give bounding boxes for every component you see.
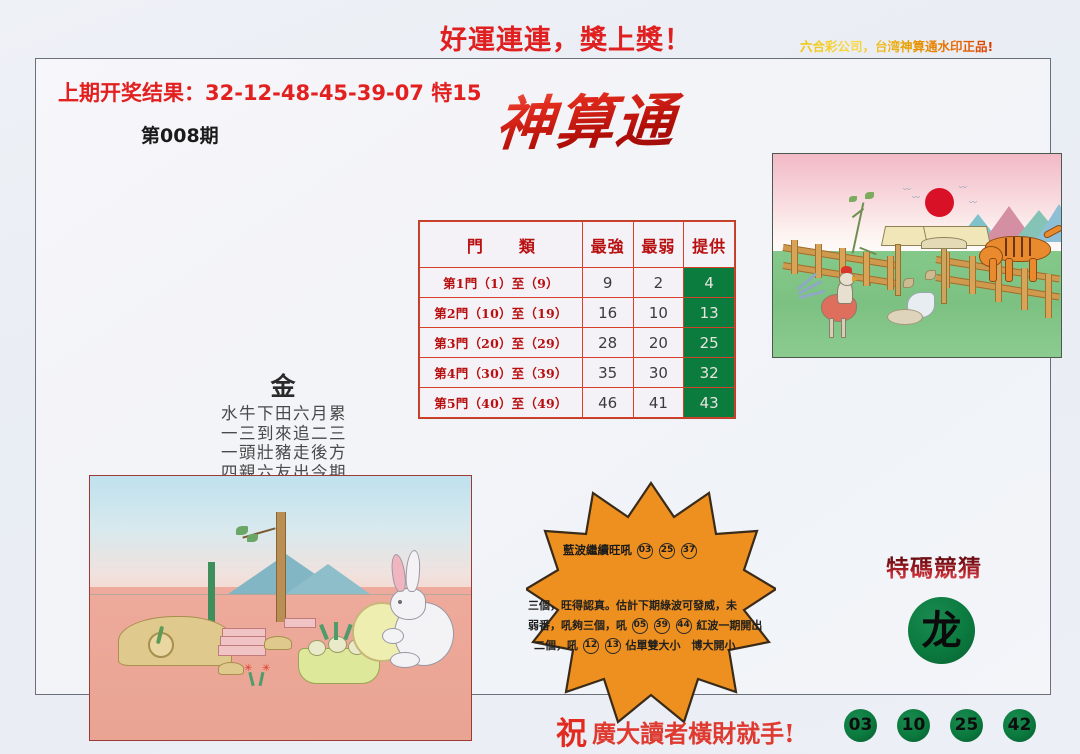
row-provide: 32: [684, 358, 735, 388]
line2-pre: 弱番，吼夠三個，吼: [528, 619, 627, 632]
starburst-callout: 藍波繼續旺吼 03 25 37 三個，旺得認真。估計下期綠波可發威，未 弱番，吼…: [526, 479, 776, 729]
bird-icon: 〰: [959, 184, 967, 192]
bird-icon: 〰: [903, 186, 911, 194]
poem-line: 水牛下田六月累: [184, 404, 384, 424]
rabbit-head: [390, 588, 426, 620]
illustration-tiger-rooster: 〰 〰 〰 〰: [772, 153, 1062, 358]
row-label: 第2門（10）至（19）: [420, 298, 583, 328]
special-guess-title: 特碼競猜: [886, 549, 982, 583]
burst-number: 03: [637, 543, 653, 559]
rooster-leg: [829, 318, 834, 338]
fence-post: [791, 240, 798, 274]
pebble-icon: [903, 278, 914, 288]
rooster-beak: [852, 276, 858, 282]
parasol-shape: [921, 237, 967, 249]
hut-pole: [941, 244, 947, 304]
table-row: 第4門（30）至（39） 35 30 32: [420, 358, 735, 388]
fence-post: [887, 256, 894, 290]
tiger-leg: [1029, 258, 1037, 282]
rabbit-eye-icon: [398, 600, 402, 604]
previous-draw-result: 上期开奖结果：32-12-48-45-39-07 特15: [58, 77, 481, 107]
row-strong: 35: [582, 358, 633, 388]
tiger-stripe: [1005, 238, 1007, 256]
tiger-leg: [1005, 258, 1013, 282]
fence-post: [1045, 274, 1052, 318]
burst-number: 25: [659, 543, 675, 559]
starburst-line-2: 弱番，吼夠三個，吼 05 39 44 紅波一期開出: [528, 617, 762, 634]
leaf-icon: [849, 196, 857, 202]
fence-post: [969, 256, 976, 294]
sand-lump: [264, 636, 292, 650]
bird-icon: 〰: [912, 194, 920, 202]
zodiac-ball: 龙: [908, 597, 975, 664]
starburst-title: 藍波繼續旺吼 03 25 37: [563, 542, 698, 559]
line3-post: 佔單雙大小 博大開小: [626, 639, 736, 652]
row-label: 第3門（20）至（29）: [420, 328, 583, 358]
sun-icon: [925, 188, 954, 217]
fence-post: [1021, 268, 1028, 310]
starburst-title-text: 藍波繼續旺吼: [563, 543, 632, 557]
bottom-banner: 祝 廣大讀者橫財就手!: [0, 700, 1080, 754]
wish-rest-text: 廣大讀者橫財就手!: [592, 719, 795, 748]
tiger-stripe: [1013, 237, 1015, 257]
table-row: 第1門（1）至（9） 9 2 4: [420, 268, 735, 298]
row-label: 第5門（40）至（49）: [420, 388, 583, 418]
rabbit-foot: [390, 652, 420, 668]
table-row: 第2門（10）至（19） 16 10 13: [420, 298, 735, 328]
line3-pre: 二個，吼: [534, 639, 578, 652]
row-label: 第1門（1）至（9）: [420, 268, 583, 298]
burst-number: 39: [654, 618, 670, 634]
row-weak: 20: [633, 328, 684, 358]
row-strong: 16: [582, 298, 633, 328]
leaf-icon: [247, 534, 258, 542]
stone-circle: [887, 309, 923, 325]
flower-icon: ✳: [262, 664, 270, 674]
bottom-wish-text: 祝 廣大讀者橫財就手!: [556, 708, 795, 753]
table-row: 第5門（40）至（49） 46 41 43: [420, 388, 735, 418]
rooster-leg: [841, 318, 846, 338]
brick-stack: [218, 645, 266, 656]
tiger-stripe: [1021, 237, 1023, 257]
row-weak: 10: [633, 298, 684, 328]
tiger-stripe: [1029, 238, 1031, 256]
slogan-main: 好運連連，獎上獎！: [440, 18, 692, 57]
col-header-strongest: 最強: [582, 222, 633, 268]
row-strong: 46: [582, 388, 633, 418]
leaf-icon: [236, 526, 248, 535]
burst-number: 05: [632, 618, 648, 634]
row-weak: 2: [633, 268, 684, 298]
main-poster-frame: 上期开奖结果：32-12-48-45-39-07 特15 第008期 神算通 門…: [35, 58, 1051, 695]
row-strong: 9: [582, 268, 633, 298]
row-provide: 4: [684, 268, 735, 298]
pebble-icon: [925, 270, 936, 280]
row-provide: 13: [684, 298, 735, 328]
col-header-type: 門 類: [420, 222, 583, 268]
table-header-row: 門 類 最強 最弱 提供: [420, 222, 735, 268]
slogan-watermark: 六合彩公司，台湾神算通水印正品!: [800, 36, 993, 55]
starburst-line-1: 三個，旺得認真。估計下期綠波可發威，未: [528, 597, 737, 613]
mountain-shape: [286, 564, 370, 594]
row-label: 第4門（30）至（39）: [420, 358, 583, 388]
row-weak: 30: [633, 358, 684, 388]
burst-number: 12: [583, 638, 599, 654]
row-provide: 25: [684, 328, 735, 358]
poem-lines: 水牛下田六月累 一三到來追二三 一頭壯豬走後方 四親六友出今期: [184, 404, 384, 482]
rock-formation: [118, 616, 232, 666]
brand-logo: 神算通: [492, 80, 729, 167]
burst-number: 44: [676, 618, 692, 634]
top-banner: 好運連連，獎上獎！ 六合彩公司，台湾神算通水印正品!: [0, 0, 1080, 58]
sand-lump: [218, 662, 244, 675]
line2-post: 紅波一期開出: [696, 619, 762, 632]
burst-number: 13: [605, 638, 621, 654]
wooden-pole: [276, 512, 286, 622]
poem-block: 金 水牛下田六月累 一三到來追二三 一頭壯豬走後方 四親六友出今期: [184, 367, 384, 482]
row-provide: 43: [684, 388, 735, 418]
brick-stack: [284, 618, 316, 628]
table-row: 第3門（20）至（29） 28 20 25: [420, 328, 735, 358]
issue-number: 第008期: [141, 121, 219, 148]
col-header-weakest: 最弱: [633, 222, 684, 268]
tiger-leg: [989, 258, 997, 282]
vegetable-item: [308, 640, 326, 656]
row-weak: 41: [633, 388, 684, 418]
row-strong: 28: [582, 328, 633, 358]
rabbit-paw: [382, 628, 404, 644]
flower-icon: ✳: [244, 664, 252, 674]
poem-title: 金: [184, 367, 384, 403]
col-header-provide: 提供: [684, 222, 735, 268]
leaf-icon: [865, 192, 874, 199]
bird-icon: 〰: [969, 199, 977, 207]
poem-line: 一頭壯豬走後方: [184, 443, 384, 463]
vegetable-leaf: [334, 622, 338, 640]
forecast-table: 門 類 最強 最弱 提供 第1門（1）至（9） 9 2 4 第2門（10）至（1…: [419, 221, 735, 418]
rooster-comb: [841, 266, 852, 273]
fence-post: [863, 252, 870, 286]
burst-number: 37: [681, 543, 697, 559]
poem-line: 一三到來追二三: [184, 424, 384, 444]
wish-big-char: 祝: [556, 716, 587, 752]
hut-pole: [895, 244, 901, 296]
starburst-line-3: 二個，吼 12 13 佔單雙大小 博大開小: [534, 637, 736, 654]
